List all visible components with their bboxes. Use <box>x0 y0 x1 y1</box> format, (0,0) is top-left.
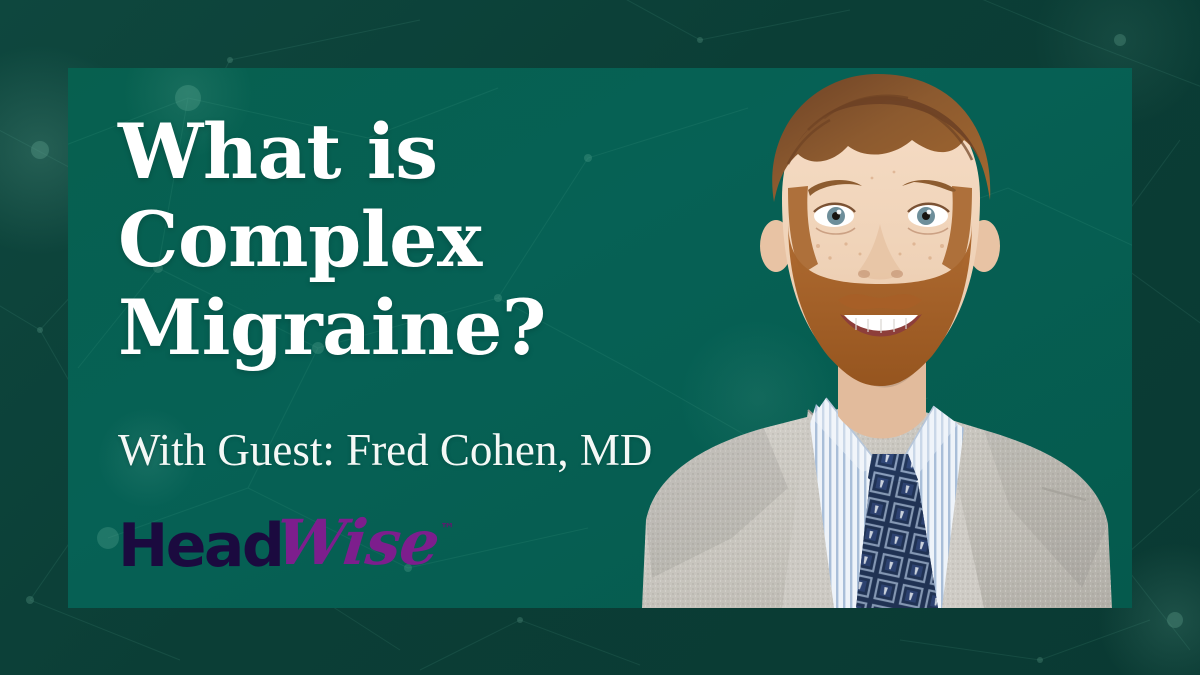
portrait-head <box>760 74 1000 386</box>
logo-word-head: Head <box>118 516 282 576</box>
title-card: What is Complex Migraine? With Guest: Fr… <box>0 0 1200 675</box>
hero-text-block: What is Complex Migraine? With Guest: Fr… <box>118 108 738 476</box>
guest-subtitle: With Guest: Fred Cohen, MD <box>118 424 738 476</box>
trademark-symbol: ™ <box>440 522 455 537</box>
page-title: What is Complex Migraine? <box>118 108 738 372</box>
headwise-logo[interactable]: Head Wise ™ <box>118 516 455 576</box>
content-panel: What is Complex Migraine? With Guest: Fr… <box>68 68 1132 608</box>
logo-word-wise: Wise <box>273 512 442 574</box>
